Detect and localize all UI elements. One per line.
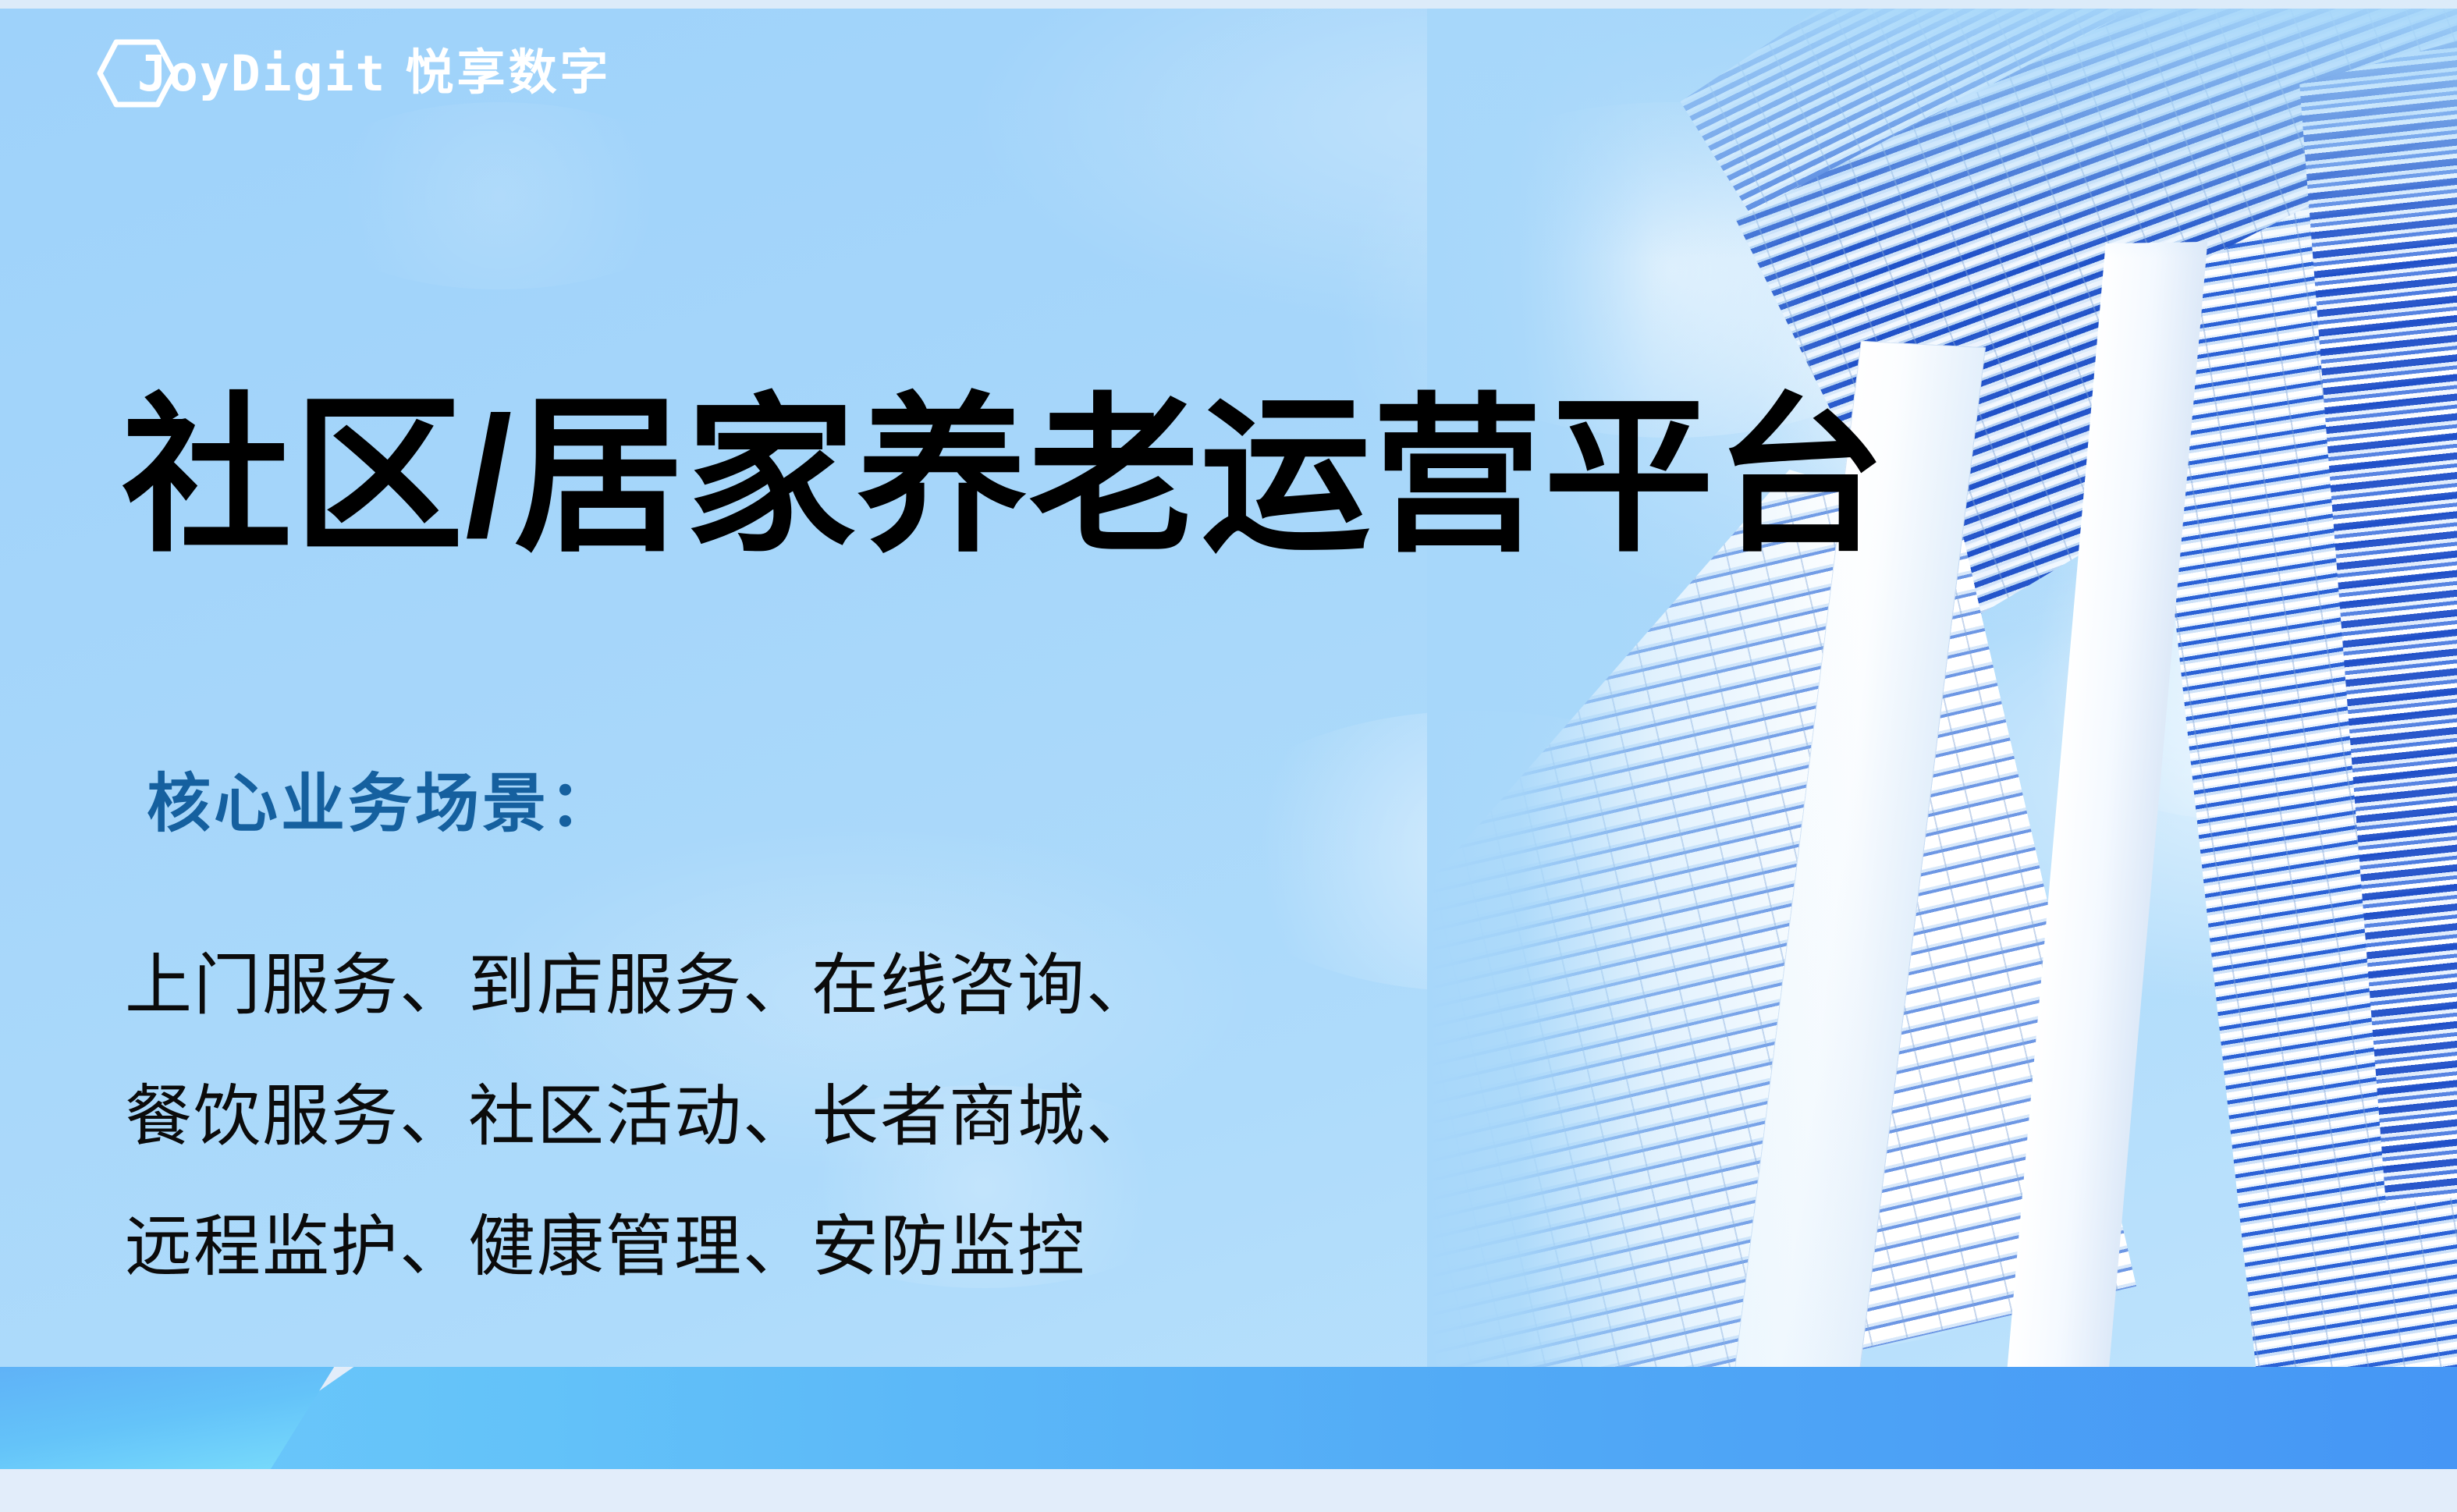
business-scenario-list: 上门服务、到店服务、在线咨询、 餐饮服务、社区活动、长者商城、 远程监护、健康管… bbox=[125, 921, 1155, 1313]
hexagon-outline-icon bbox=[67, 33, 192, 114]
list-item: 远程监护、健康管理、安防监控 bbox=[125, 1182, 1155, 1313]
list-item: 上门服务、到店服务、在线咨询、 bbox=[125, 921, 1155, 1052]
page-title: 社区/居家养老运营平台 bbox=[122, 389, 1887, 567]
cloud-shape bbox=[296, 102, 702, 289]
slide-canvas: JoyDigit 悦享数字 社区/居家养老运营平台 核心业务场景： 上门服务、到… bbox=[0, 0, 2457, 1512]
skyscraper-photo bbox=[1427, 9, 2457, 1382]
top-edge-strip bbox=[0, 0, 2457, 9]
brand-wordmark-cn: 悦享数字 bbox=[405, 49, 611, 98]
brand-logo[interactable]: JoyDigit 悦享数字 bbox=[137, 36, 611, 111]
section-subheading: 核心业务场景： bbox=[147, 769, 616, 839]
bottom-ribbon bbox=[0, 1367, 2457, 1512]
ribbon-main-band bbox=[0, 1367, 2457, 1469]
list-item: 餐饮服务、社区活动、长者商城、 bbox=[125, 1052, 1155, 1183]
